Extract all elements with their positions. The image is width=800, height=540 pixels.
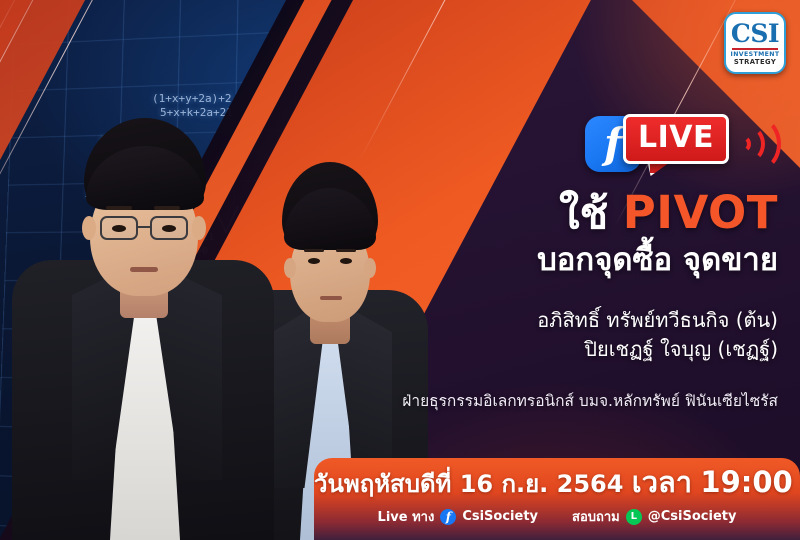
footer-facebook-handle: CsiSociety: [462, 509, 538, 524]
schedule-time: 19:00: [700, 465, 792, 499]
speaker-name-2: ปิยเชฏฐ์ ใจบุญ (เชฏฐ์): [537, 335, 778, 364]
footer-live-prefix: Live ทาง: [378, 506, 435, 527]
footer-line-handle: @CsiSociety: [648, 509, 737, 524]
headline-row-2: บอกจุดซื้อ จุดขาย: [537, 239, 778, 281]
promo-poster: (1+x+y+2a)+2 5+x+k+2a+21 1+x+y+2a+21 lim…: [0, 0, 800, 540]
headline-keyword: PIVOT: [623, 186, 778, 239]
footer-facebook[interactable]: Live ทาง f CsiSociety: [378, 506, 538, 527]
csi-logo-divider: [732, 48, 778, 50]
department-line: ฝ่ายธุรกรรมอิเลกทรอนิกส์ บมจ.หลักทรัพย์ …: [402, 390, 778, 412]
line-icon: L: [626, 509, 642, 525]
headline-prefix: ใช้: [559, 189, 608, 238]
csi-logo-sub-strategy: STRATEGY: [734, 58, 776, 66]
footer-line[interactable]: สอบถาม L @CsiSociety: [572, 506, 736, 527]
csi-logo-sub-investment: INVESTMENT: [731, 51, 780, 58]
schedule-line: วันพฤหัสบดีที่ 16 ก.ย. 2564 เวลา 19:00 น…: [314, 465, 800, 501]
glasses-bridge: [138, 226, 150, 228]
live-label: LIVE: [623, 114, 729, 164]
footer-links: Live ทาง f CsiSociety สอบถาม L @CsiSocie…: [314, 506, 800, 527]
headline: ใช้ PIVOT บอกจุดซื้อ จุดขาย: [537, 188, 778, 281]
schedule-bar: วันพฤหัสบดีที่ 16 ก.ย. 2564 เวลา 19:00 น…: [314, 458, 800, 540]
speaker-photo-left: [28, 70, 258, 540]
speaker-names: อภิสิทธิ์ ทรัพย์ทวีธนกิจ (ต้น) ปิยเชฏฐ์ …: [537, 306, 778, 364]
facebook-live-badge[interactable]: f LIVE: [585, 108, 790, 180]
broadcast-wave-inner-icon: [733, 135, 751, 153]
facebook-icon: f: [440, 509, 456, 525]
headline-row-1: ใช้ PIVOT: [537, 188, 778, 239]
footer-ask-prefix: สอบถาม: [572, 506, 620, 527]
csi-logo-main: CSI: [731, 21, 779, 46]
schedule-time-label: เวลา: [632, 465, 692, 499]
schedule-date: วันพฤหัสบดีที่ 16 ก.ย. 2564: [314, 470, 623, 498]
csi-logo[interactable]: CSI INVESTMENT STRATEGY: [724, 12, 786, 74]
speaker-name-1: อภิสิทธิ์ ทรัพย์ทวีธนกิจ (ต้น): [537, 306, 778, 335]
